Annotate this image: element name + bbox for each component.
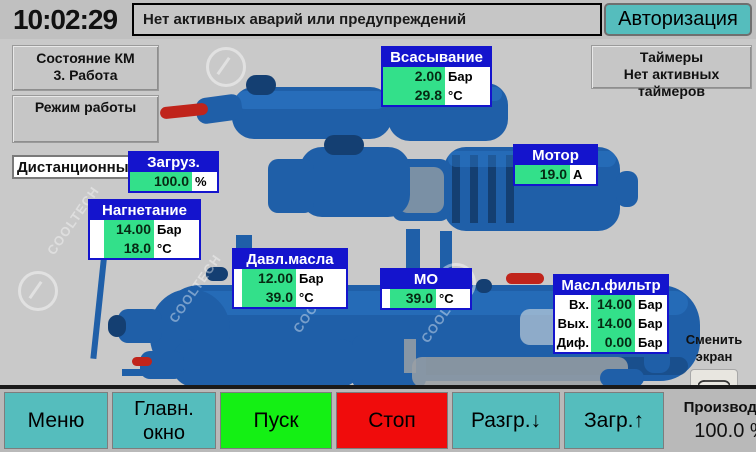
operating-mode-value: Дистанционны [14,159,139,176]
panel-motor: Мотор 19.0 A [513,144,598,186]
hmi-screen: 10:02:29 Нет активных аварий или предупр… [0,0,756,452]
change-screen-button[interactable] [690,369,738,385]
watermark-ring-icon [18,271,58,311]
panel-suction-row: 29.8 °C [383,86,490,105]
panel-suction-row: 2.00 Бар [383,67,490,86]
capacity-readout: Производ-ть 100.0 % [668,392,756,449]
panel-oil-pressure-row: 12.00 Бар [234,269,346,288]
load-button[interactable]: Загр.↑ [564,392,664,449]
panel-discharge-title: Нагнетание [90,201,199,220]
change-screen-group: Сменить экран [676,331,752,385]
oil-filter-diff-value: 0.00 [591,333,635,352]
watermark-ring-icon [206,47,246,87]
load-unit: % [192,172,217,191]
panel-mo-row: 39.0 °C [382,289,470,308]
oil-filter-outlet-unit: Бар [635,314,667,333]
mo-temperature-value: 39.0 [390,289,436,308]
compressor-state-box: Состояние КМ 3. Работа [12,45,159,91]
discharge-pressure-unit: Бар [154,220,199,239]
panel-motor-title: Мотор [515,146,596,165]
spacer [90,220,104,239]
panel-discharge-row: 18.0 °C [90,239,199,258]
panel-mo: МО 39.0 °C [380,268,472,310]
motor-current-unit: A [570,165,596,184]
suction-temperature-unit: °C [445,86,490,105]
oil-temperature-value: 39.0 [242,288,296,307]
loop-arrow-icon [698,377,730,385]
panel-oil-pressure: Давл.масла 12.00 Бар 39.0 °C [232,248,348,309]
oil-filter-inlet-label: Вх. [555,295,591,314]
spacer [234,288,242,307]
spacer [234,269,242,288]
oil-temperature-unit: °C [296,288,346,307]
operating-mode-title: Режим работы [13,99,158,116]
spacer [382,289,390,308]
panel-suction: Всасывание 2.00 Бар 29.8 °C [381,46,492,107]
change-screen-label-line1: Сменить [676,331,752,348]
panel-discharge: Нагнетание 14.00 Бар 18.0 °C [88,199,201,260]
discharge-temperature-value: 18.0 [104,239,154,258]
start-button[interactable]: Пуск [220,392,332,449]
capacity-title: Производ-ть [684,398,756,418]
oil-filter-outlet-label: Вых. [555,314,591,333]
timers-value: Нет активных таймеров [592,66,751,100]
discharge-pressure-value: 14.00 [104,220,154,239]
panel-load-title: Загруз. [130,153,217,172]
spacer [90,239,104,258]
oil-filter-inlet-unit: Бар [635,295,667,314]
panel-oil-filter-row: Вх. 14.00 Бар [555,295,667,314]
timers-box: Таймеры Нет активных таймеров [591,45,752,89]
oil-pressure-value: 12.00 [242,269,296,288]
bottom-toolbar: Меню Главн. окно Пуск Стоп Разгр.↓ Загр.… [0,385,756,452]
capacity-value: 100.0 % [694,418,756,444]
compressor-state-title: Состояние КМ [13,50,158,67]
authorization-button[interactable]: Авторизация [604,3,752,36]
oil-filter-inlet-value: 14.00 [591,295,635,314]
panel-oil-filter: Масл.фильтр Вх. 14.00 Бар Вых. 14.00 Бар… [553,274,669,354]
load-value: 100.0 [130,172,192,191]
discharge-temperature-unit: °C [154,239,199,258]
panel-discharge-row: 14.00 Бар [90,220,199,239]
panel-oil-filter-title: Масл.фильтр [555,276,667,295]
suction-temperature-value: 29.8 [383,86,445,105]
change-screen-label-line2: экран [676,348,752,365]
unload-button[interactable]: Разгр.↓ [452,392,560,449]
oil-filter-outlet-value: 14.00 [591,314,635,333]
motor-current-value: 19.0 [515,165,570,184]
main-window-button[interactable]: Главн. окно [112,392,216,449]
panel-motor-row: 19.0 A [515,165,596,184]
panel-suction-title: Всасывание [383,48,490,67]
compressor-state-value: 3. Работа [13,67,158,84]
machine-graphic-area: COOLTECH COOLTECH COOLTECH COOLTECH Сост… [0,39,756,385]
panel-load: Загруз. 100.0 % [128,151,219,193]
alarm-status-bar: Нет активных аварий или предупреждений [132,3,602,36]
header-bar: 10:02:29 Нет активных аварий или предупр… [0,0,756,39]
oil-filter-diff-unit: Бар [635,333,667,352]
operating-mode-box: Режим работы [12,95,159,143]
panel-mo-title: МО [382,270,470,289]
panel-oil-filter-row: Вых. 14.00 Бар [555,314,667,333]
panel-oil-filter-row: Диф. 0.00 Бар [555,333,667,352]
menu-button[interactable]: Меню [4,392,108,449]
oil-pressure-unit: Бар [296,269,346,288]
suction-pressure-value: 2.00 [383,67,445,86]
panel-load-row: 100.0 % [130,172,217,191]
timers-title: Таймеры [592,49,751,66]
panel-oil-pressure-title: Давл.масла [234,250,346,269]
stop-button[interactable]: Стоп [336,392,448,449]
oil-filter-diff-label: Диф. [555,333,591,352]
clock-display: 10:02:29 [0,4,130,36]
mo-temperature-unit: °C [436,289,470,308]
panel-oil-pressure-row: 39.0 °C [234,288,346,307]
suction-pressure-unit: Бар [445,67,490,86]
